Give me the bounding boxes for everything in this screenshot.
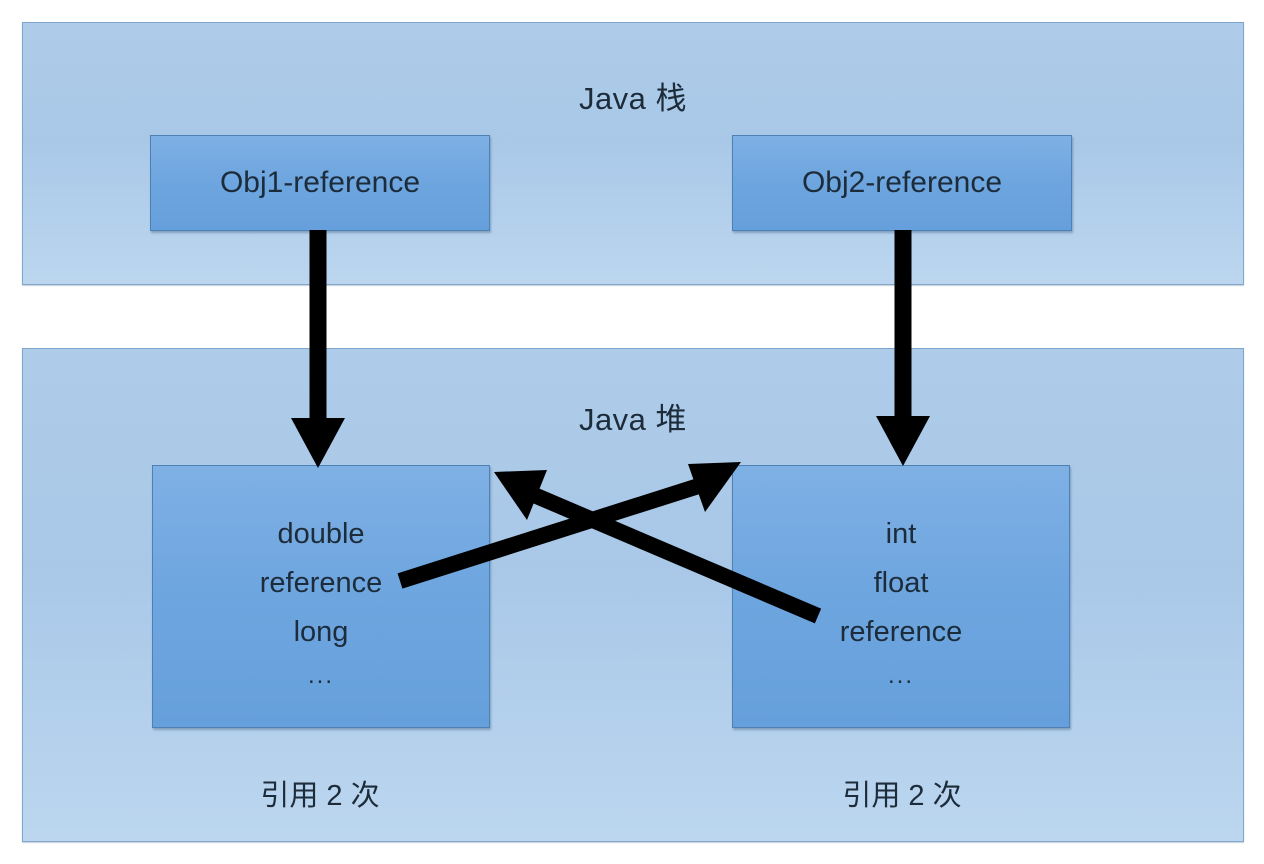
heap-object-1-box: double reference long ...: [152, 465, 490, 728]
heap-object-1-field-3: long: [294, 608, 349, 657]
heap-object-2-ellipsis: ...: [888, 656, 914, 696]
stack-box-obj2-label: Obj2-reference: [802, 166, 1002, 200]
heap-object-2-reference-count-caption: 引用 2 次: [732, 772, 1072, 814]
heap-object-2-field-3: reference: [840, 608, 963, 657]
java-heap-title: Java 堆: [23, 394, 1243, 439]
heap-object-1-reference-count-caption: 引用 2 次: [150, 772, 490, 814]
stack-box-obj1-label: Obj1-reference: [220, 166, 420, 200]
heap-object-1-field-2: reference: [260, 559, 383, 608]
heap-object-1-field-1: double: [277, 510, 364, 559]
heap-object-2-field-2: float: [874, 559, 929, 608]
heap-object-1-ellipsis: ...: [308, 656, 334, 696]
memory-model-diagram: Java 栈 Obj1-reference Obj2-reference Jav…: [0, 0, 1264, 864]
stack-box-obj1-reference: Obj1-reference: [150, 135, 490, 231]
heap-object-2-field-1: int: [886, 510, 917, 559]
stack-box-obj2-reference: Obj2-reference: [732, 135, 1072, 231]
heap-object-2-box: int float reference ...: [732, 465, 1070, 728]
java-stack-title: Java 栈: [23, 73, 1243, 118]
